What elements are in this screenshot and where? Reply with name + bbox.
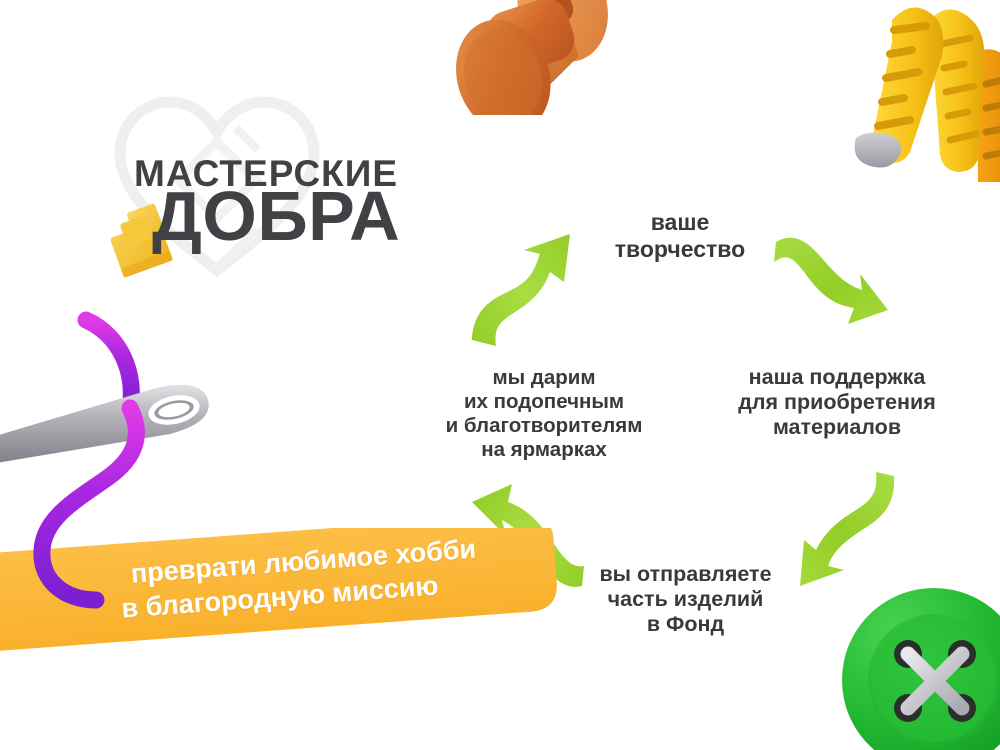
cycle-node-we-gift: мы дарим их подопечным и благотворителям… xyxy=(430,366,658,462)
cycle-node-you-send: вы отправляете часть изделий в Фонд xyxy=(568,562,803,637)
sewing-button-icon xyxy=(838,588,1000,750)
measuring-tape-icon xyxy=(836,0,1000,182)
cycle-node-our-support: наша поддержка для приобретения материал… xyxy=(712,365,962,440)
infographic-canvas: МАСТЕРСКИЕ ДОБРА xyxy=(0,0,1000,750)
logo-line-2: ДОБРА xyxy=(152,181,400,251)
thread-spool-icon xyxy=(432,0,632,115)
brand-logo: МАСТЕРСКИЕ ДОБРА xyxy=(106,155,466,265)
cycle-node-your-creativity: ваше творчество xyxy=(560,209,800,263)
needle-thread-icon xyxy=(0,300,230,630)
